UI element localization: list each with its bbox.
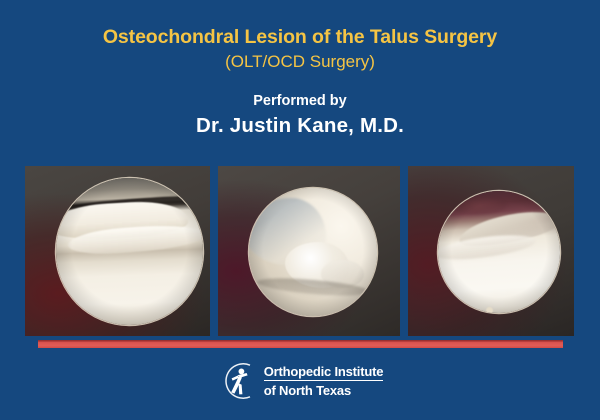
page-subtitle: (OLT/OCD Surgery) (0, 51, 600, 72)
organization-logo: Orthopedic Institute of North Texas (0, 360, 600, 402)
arthroscopic-photo-1 (25, 166, 210, 336)
presentation-slide: Osteochondral Lesion of the Talus Surger… (0, 0, 600, 420)
logo-line-1: Orthopedic Institute (264, 365, 384, 381)
scope-circle-3 (438, 191, 560, 313)
arthroscopy-image-band (25, 166, 574, 336)
title-block: Osteochondral Lesion of the Talus Surger… (0, 27, 600, 73)
presenter-name: Dr. Justin Kane, M.D. (0, 113, 600, 139)
scope-vignette-1 (56, 178, 203, 325)
scope-rim-highlight-2 (252, 285, 259, 292)
arthroscopic-photo-2 (218, 166, 400, 336)
running-figure-icon (217, 360, 259, 402)
accent-divider-rule (38, 340, 563, 348)
scope-rim-highlight-1 (58, 288, 65, 295)
logo-text: Orthopedic Institute of North Texas (264, 365, 384, 397)
presenter-block: Performed by Dr. Justin Kane, M.D. (0, 93, 600, 139)
scope-vignette-2 (249, 188, 377, 316)
page-title: Osteochondral Lesion of the Talus Surger… (0, 27, 600, 47)
presenter-prefix-label: Performed by (0, 93, 600, 110)
arthroscopic-photo-3 (408, 166, 574, 336)
logo-line-2: of North Texas (264, 381, 384, 397)
scope-rim-highlight-3 (486, 307, 493, 313)
scope-vignette-3 (438, 191, 560, 313)
scope-circle-1 (56, 178, 203, 325)
scope-circle-2 (249, 188, 377, 316)
